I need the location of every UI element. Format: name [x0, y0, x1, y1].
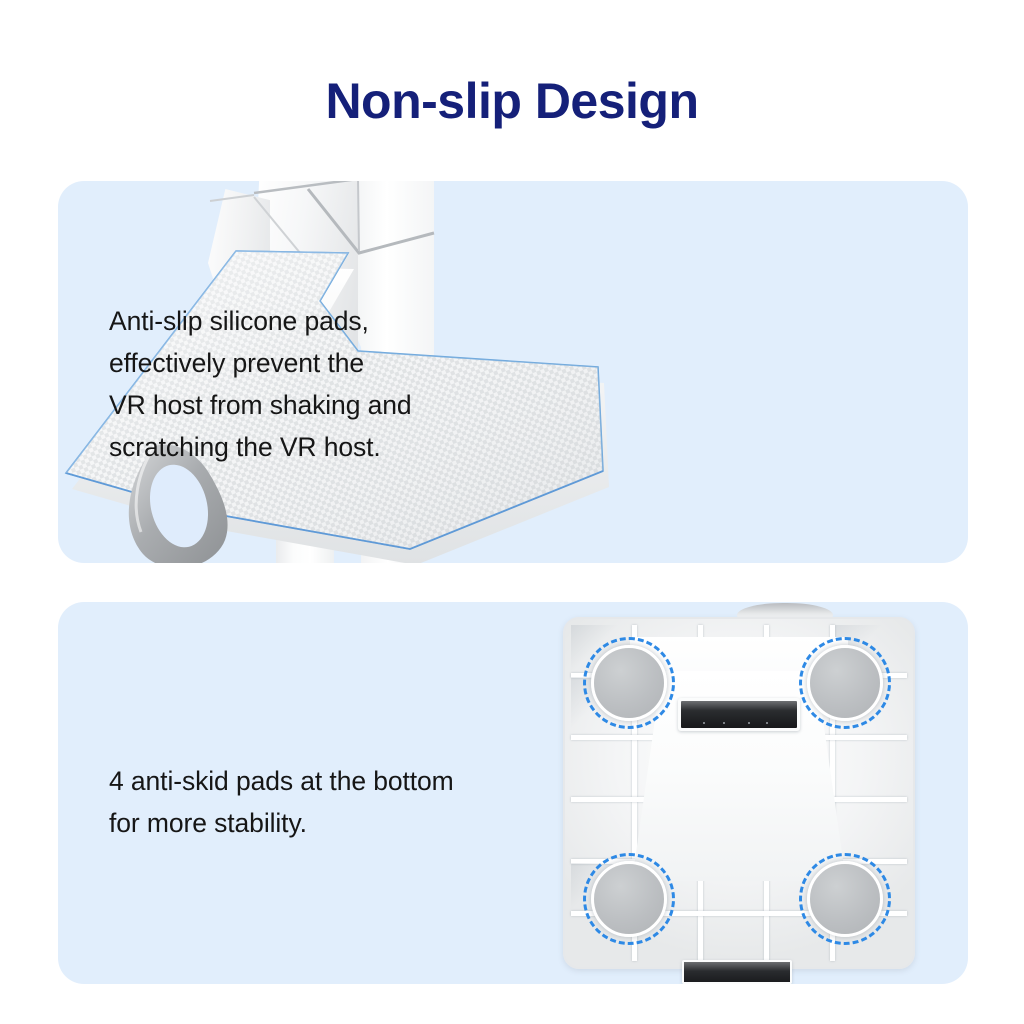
page-title: Non-slip Design [0, 72, 1024, 130]
base-plate-underside [563, 617, 915, 969]
anti-skid-pad-top-right [807, 645, 883, 721]
anti-skid-pad-bottom-right [807, 861, 883, 937]
anti-skid-pad-bottom-left [591, 861, 667, 937]
base-slot [678, 698, 800, 731]
anti-skid-pads-caption: 4 anti-skid pads at the bottom for more … [109, 760, 539, 844]
anti-skid-pad-top-left [591, 645, 667, 721]
column-stub-bottom [682, 960, 792, 984]
silicone-pad-caption: Anti-slip silicone pads, effectively pre… [109, 300, 489, 468]
anti-skid-pads-panel: 4 anti-skid pads at the bottom for more … [58, 602, 968, 984]
silicone-pad-panel: Anti-slip silicone pads, effectively pre… [58, 181, 968, 563]
